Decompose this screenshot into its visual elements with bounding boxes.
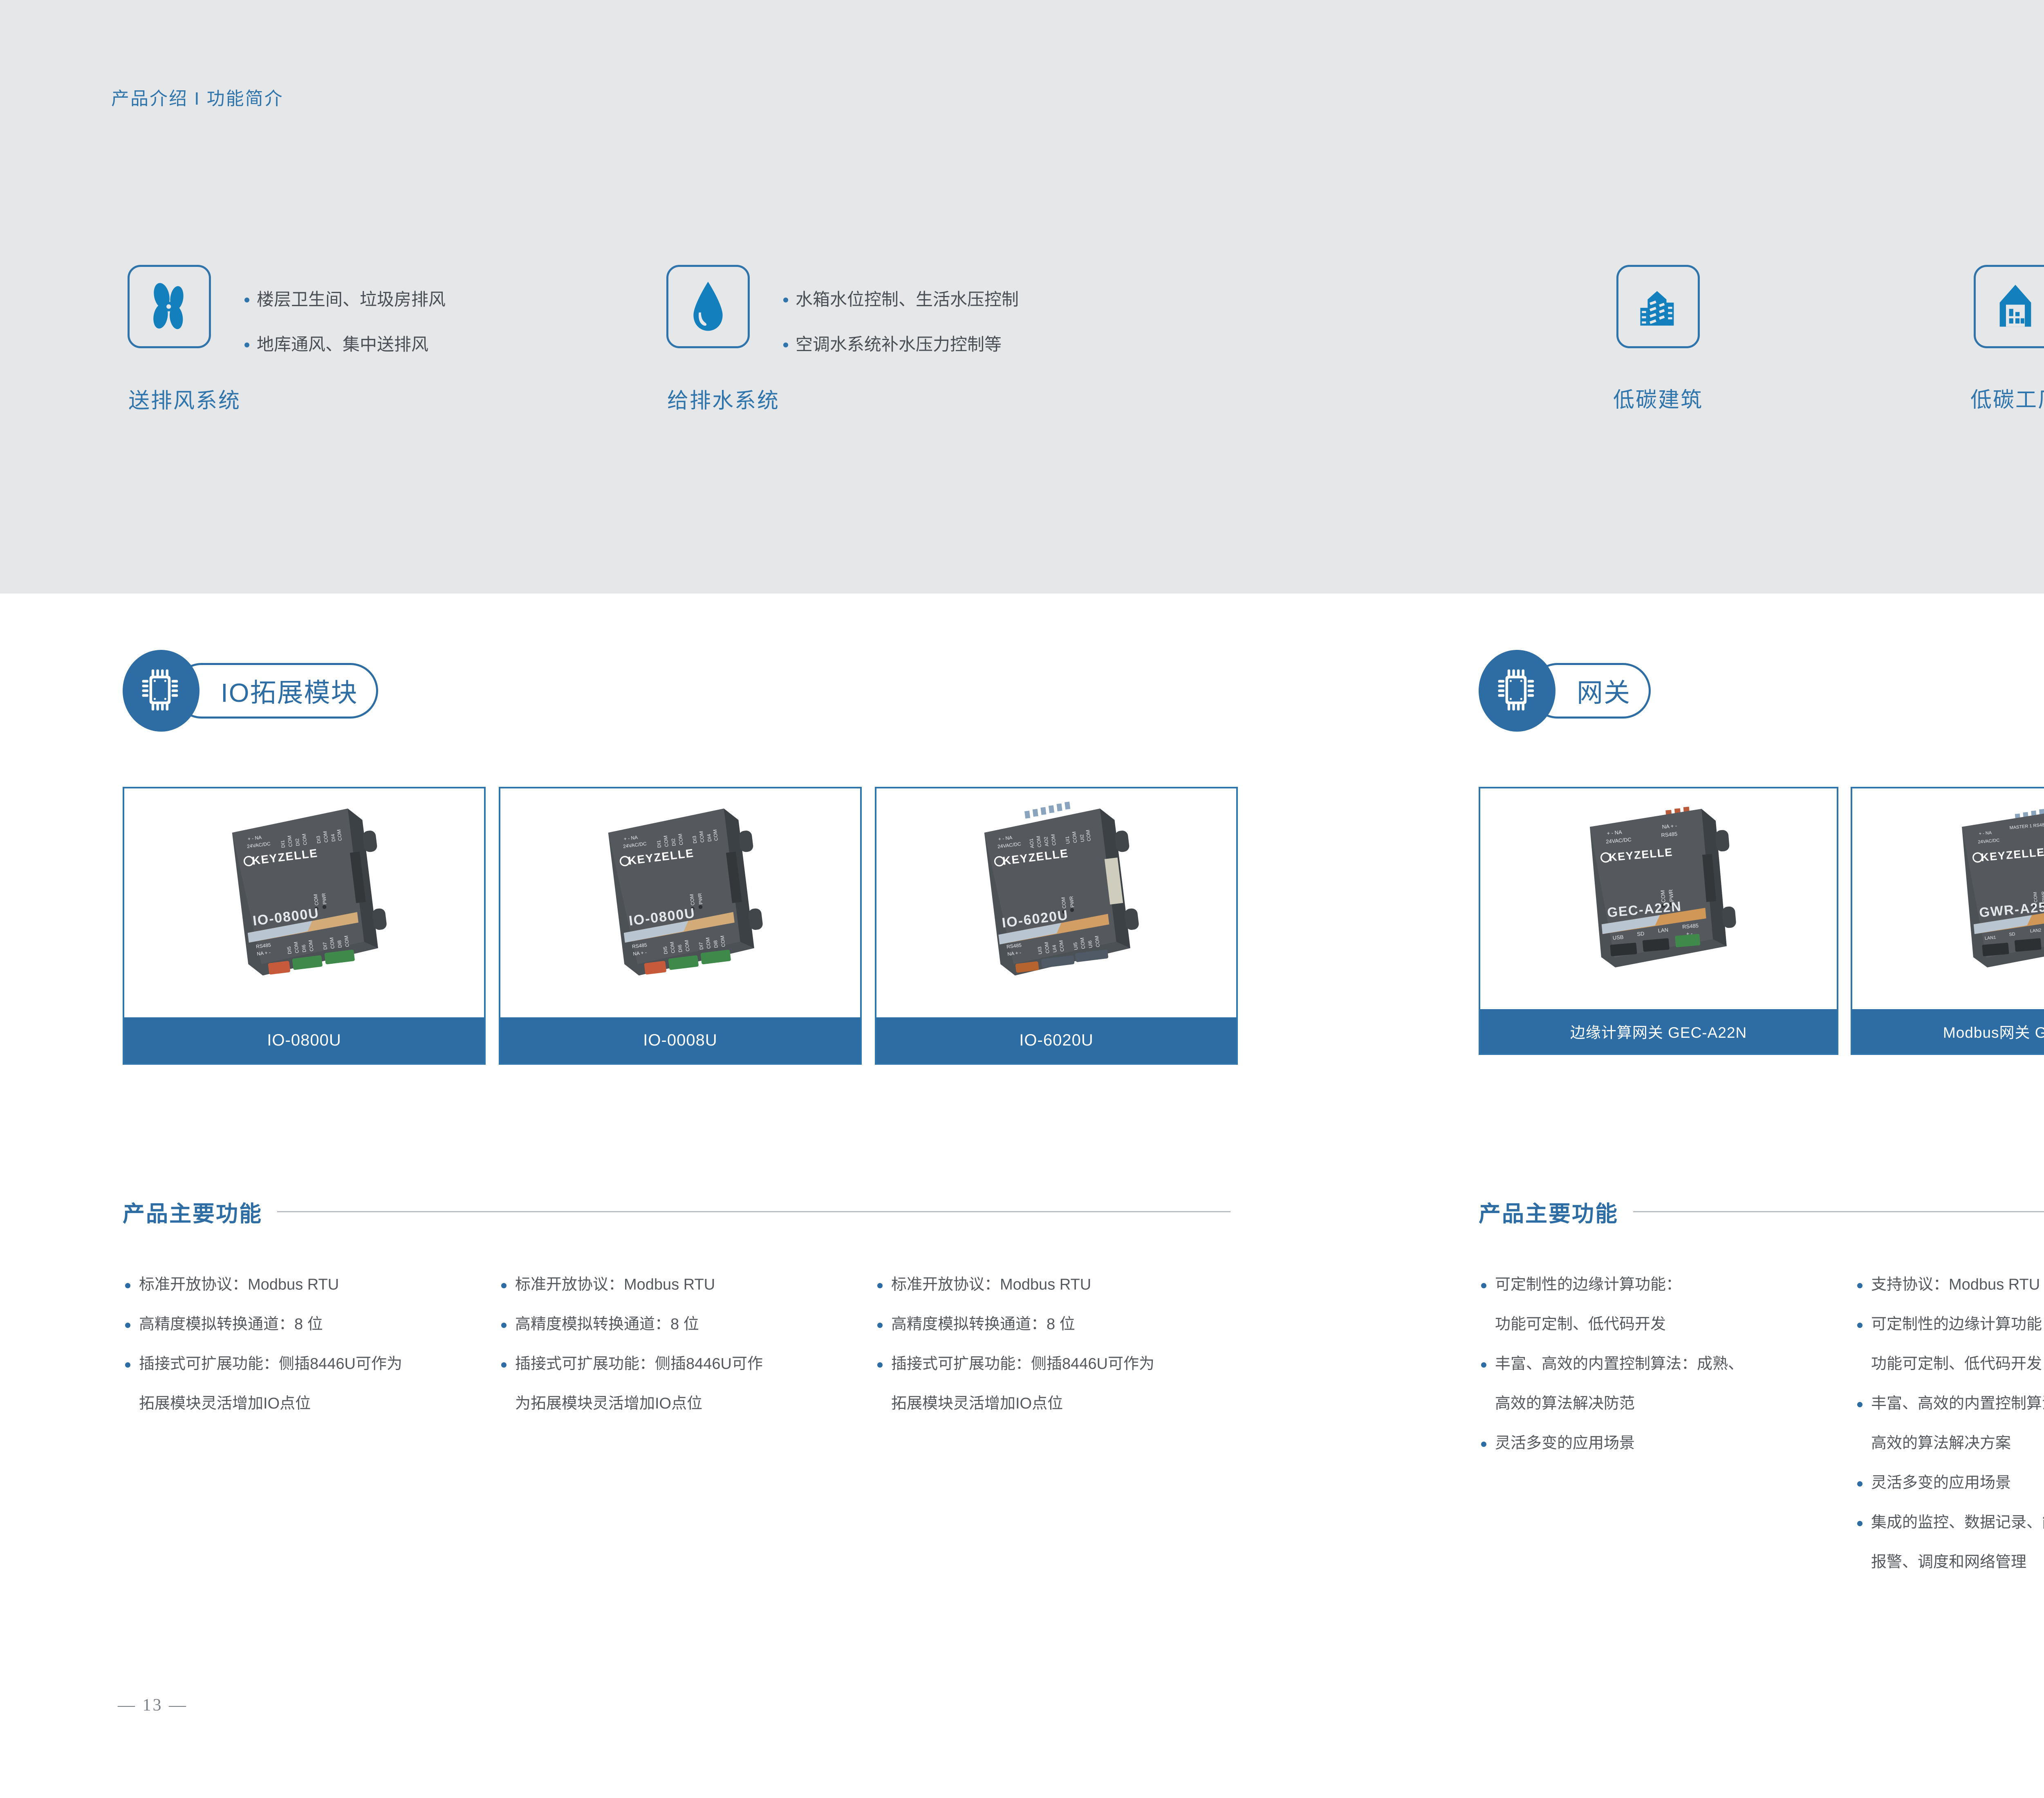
- svg-text:UI4: UI4: [1051, 945, 1058, 953]
- list-item: 标准开放协议：Modbus RTU: [123, 1265, 499, 1305]
- section-title: IO拓展模块: [221, 672, 358, 710]
- feature-line: 标准开放协议：Modbus RTU: [891, 1276, 1091, 1293]
- feature-line: 高效的算法解决防范: [1495, 1384, 1855, 1424]
- feature-line: 功能可定制、低代码开发: [1495, 1305, 1855, 1344]
- factory-icon-box: [1974, 265, 2044, 348]
- feature-line: 灵活多变的应用场景: [1871, 1474, 2011, 1491]
- heading-rule: [1633, 1211, 2044, 1212]
- ventilation-bullet-list: 楼层卫生间、垃圾房排风 地库通风、集中送排风: [242, 277, 446, 367]
- list-item: 灵活多变的应用场景: [1479, 1424, 1855, 1463]
- svg-text:USB: USB: [1612, 934, 1624, 941]
- svg-text:DI3: DI3: [315, 835, 322, 844]
- product-card-row-io: + - NA24VAC/DC DI1 COM DI2 COM DI3 COM D…: [123, 787, 1238, 1065]
- list-item: 灵活多变的应用场景: [1855, 1463, 2044, 1503]
- list-item: 高精度模拟转换通道：8 位: [123, 1305, 499, 1344]
- feature-line: 可定制性的边缘计算功能：: [1871, 1316, 2044, 1333]
- product-photo: + - NA24VAC/DC MASTER 1 RS485 2 RS485 3 …: [1852, 788, 2044, 1009]
- svg-text:DI6: DI6: [300, 944, 307, 953]
- list-item: 高精度模拟转换通道：8 位: [875, 1305, 1251, 1344]
- chip-icon-badge: [1479, 650, 1555, 732]
- list-item: 集成的监控、数据记录、能耗计量、 报警、调度和网络管理: [1855, 1503, 2044, 1582]
- feature-line: 高效的算法解决方案: [1871, 1424, 2044, 1463]
- product-card-row-gateway: + - NA24VAC/DC NA + -RS485 USBSD LANRS48…: [1479, 787, 2044, 1055]
- section-title: 网关: [1577, 672, 1631, 710]
- feature-columns-io: 标准开放协议：Modbus RTU 高精度模拟转换通道：8 位 插接式可扩展功能…: [123, 1265, 1251, 1424]
- feature-column: 标准开放协议：Modbus RTU 高精度模拟转换通道：8 位 插接式可扩展功能…: [123, 1265, 499, 1424]
- list-item: 标准开放协议：Modbus RTU: [499, 1265, 875, 1305]
- feature-line: 标准开放协议：Modbus RTU: [139, 1276, 339, 1293]
- product-card[interactable]: + - NA24VAC/DC NA + -RS485 USBSD LANRS48…: [1479, 787, 1838, 1055]
- product-card[interactable]: + - NA24VAC/DC MASTER 1 RS485 2 RS485 3 …: [1851, 787, 2044, 1055]
- chip-icon: [140, 666, 182, 716]
- list-item: 插接式可扩展功能：侧插8446U可作为 拓展模块灵活增加IO点位: [875, 1344, 1251, 1424]
- scenario-low-carbon-building: 低碳建筑: [1589, 265, 1728, 413]
- product-card[interactable]: + - NA24VAC/DC DI1 COM DI2 COM DI3 COM D…: [499, 787, 862, 1065]
- feature-column: 可定制性的边缘计算功能： 功能可定制、低代码开发 丰富、高效的内置控制算法：成熟…: [1479, 1265, 1855, 1582]
- product-card[interactable]: + - NA24VAC/DC AO1 COM AO2 COM UI1 COM U…: [875, 787, 1238, 1065]
- feature-column: 标准开放协议：Modbus RTU 高精度模拟转换通道：8 位 插接式可扩展功能…: [499, 1265, 875, 1424]
- feature-line: 插接式可扩展功能：侧插8446U可作为: [891, 1355, 1154, 1373]
- feature-column: 标准开放协议：Modbus RTU 高精度模拟转换通道：8 位 插接式可扩展功能…: [875, 1265, 1251, 1424]
- svg-text:DI7: DI7: [698, 942, 704, 950]
- product-name: 边缘计算网关 GEC-A22N: [1480, 1009, 1837, 1053]
- list-item: 可定制性的边缘计算功能： 功能可定制、低代码开发: [1855, 1305, 2044, 1384]
- product-card[interactable]: + - NA24VAC/DC DI1 COM DI2 COM DI3 COM D…: [123, 787, 486, 1065]
- fan-icon-box: [128, 265, 211, 348]
- feature-heading-gateway: 产品主要功能: [1479, 1196, 2044, 1228]
- scenario-caption: 低碳建筑: [1589, 383, 1728, 413]
- product-photo: + - NA24VAC/DC DI1 COM DI2 COM DI3 COM D…: [500, 788, 860, 1017]
- product-photo: + - NA24VAC/DC NA + -RS485 USBSD LANRS48…: [1480, 788, 1837, 1009]
- feature-line: 拓展模块灵活增加IO点位: [891, 1384, 1251, 1424]
- svg-text:DI1: DI1: [280, 840, 286, 848]
- office-building-icon-box: [1616, 265, 1700, 348]
- heading-rule: [277, 1211, 1230, 1212]
- scenario-caption: 给排水系统: [667, 383, 780, 414]
- svg-text:LAN2: LAN2: [2030, 928, 2041, 934]
- chip-icon: [1496, 666, 1538, 716]
- svg-text:UI3: UI3: [1037, 946, 1043, 955]
- feature-line: 高精度模拟转换通道：8 位: [515, 1316, 699, 1333]
- product-name: IO-6020U: [876, 1017, 1236, 1063]
- svg-text:DI6: DI6: [677, 944, 683, 953]
- section-pill-body: IO拓展模块: [174, 663, 378, 719]
- feature-line: 丰富、高效的内置控制算法：成熟、: [1495, 1355, 1744, 1373]
- feature-line: 集成的监控、数据记录、能耗计量、: [1871, 1514, 2044, 1531]
- feature-line: 高精度模拟转换通道：8 位: [891, 1316, 1075, 1333]
- product-name: IO-0008U: [500, 1017, 860, 1063]
- svg-text:DI5: DI5: [286, 946, 293, 954]
- water-drop-icon: [684, 280, 732, 334]
- running-header-left: 产品介绍 I 功能简介: [111, 84, 284, 110]
- feature-column: 支持协议：Modbus RTU 可定制性的边缘计算功能： 功能可定制、低代码开发…: [1855, 1265, 2044, 1582]
- svg-text:AO1: AO1: [1028, 838, 1035, 849]
- list-item: 可定制性的边缘计算功能： 功能可定制、低代码开发: [1479, 1265, 1855, 1344]
- feature-line: 拓展模块灵活增加IO点位: [139, 1384, 499, 1424]
- svg-text:UI2: UI2: [1079, 834, 1085, 842]
- svg-text:DI8: DI8: [713, 940, 719, 948]
- svg-text:DI2: DI2: [670, 838, 677, 846]
- svg-text:SD: SD: [1637, 930, 1645, 937]
- svg-text:DI7: DI7: [322, 942, 328, 950]
- feature-heading-io: 产品主要功能: [123, 1196, 1230, 1228]
- list-item: 插接式可扩展功能：侧插8446U可作 为拓展模块灵活增加IO点位: [499, 1344, 875, 1424]
- svg-text:UI1: UI1: [1064, 836, 1071, 844]
- page-number-left: — 13 —: [118, 1695, 188, 1715]
- feature-heading-text: 产品主要功能: [1479, 1196, 1618, 1228]
- scenario-caption: 低碳工厂: [1946, 383, 2044, 413]
- list-item: 高精度模拟转换通道：8 位: [499, 1305, 875, 1344]
- feature-line: 报警、调度和网络管理: [1871, 1543, 2044, 1582]
- svg-text:DI4: DI4: [330, 833, 336, 842]
- product-name: Modbus网关 GWR-A25N: [1852, 1009, 2044, 1053]
- list-item: 地库通风、集中送排风: [242, 322, 446, 367]
- svg-text:LAN1: LAN1: [1985, 935, 1996, 941]
- factory-icon: [1989, 280, 2042, 334]
- product-photo: + - NA24VAC/DC AO1 COM AO2 COM UI1 COM U…: [876, 788, 1236, 1017]
- feature-heading-text: 产品主要功能: [123, 1196, 262, 1228]
- office-building-icon: [1632, 280, 1684, 334]
- feature-line: 可定制性的边缘计算功能：: [1495, 1276, 1681, 1293]
- list-item: 空调水系统补水压力控制等: [781, 322, 1019, 367]
- svg-text:LAN: LAN: [1658, 927, 1669, 934]
- feature-line: 支持协议：Modbus RTU: [1871, 1276, 2040, 1293]
- fan-icon: [142, 280, 196, 334]
- svg-text:SD: SD: [2009, 932, 2015, 937]
- list-item: 水箱水位控制、生活水压控制: [781, 277, 1019, 322]
- svg-text:DI3: DI3: [691, 835, 698, 844]
- list-item: 插接式可扩展功能：侧插8446U可作为 拓展模块灵活增加IO点位: [123, 1344, 499, 1424]
- product-name: IO-0800U: [124, 1017, 484, 1063]
- feature-line: 灵活多变的应用场景: [1495, 1435, 1635, 1452]
- list-item: 楼层卫生间、垃圾房排风: [242, 277, 446, 322]
- feature-line: 插接式可扩展功能：侧插8446U可作为: [139, 1355, 402, 1373]
- list-item: 丰富、高效的内置控制算法：成熟、 高效的算法解决方案: [1855, 1384, 2044, 1463]
- svg-text:DI1: DI1: [656, 840, 662, 848]
- feature-line: 插接式可扩展功能：侧插8446U可作: [515, 1355, 763, 1373]
- scenario-low-carbon-factory: 低碳工厂: [1946, 265, 2044, 413]
- scenario-caption: 送排风系统: [128, 383, 241, 414]
- feature-line: 为拓展模块灵活增加IO点位: [515, 1384, 875, 1424]
- product-photo: + - NA24VAC/DC DI1 COM DI2 COM DI3 COM D…: [124, 788, 484, 1017]
- svg-text:DI5: DI5: [662, 946, 669, 954]
- svg-text:NA + -: NA + -: [1662, 822, 1677, 830]
- svg-text:UI5: UI5: [1072, 942, 1079, 950]
- list-item: 标准开放协议：Modbus RTU: [875, 1265, 1251, 1305]
- svg-text:UI6: UI6: [1087, 940, 1094, 949]
- svg-text:DI8: DI8: [336, 940, 343, 948]
- svg-text:DI2: DI2: [294, 838, 301, 846]
- svg-text:AO2: AO2: [1043, 836, 1050, 847]
- feature-line: 高精度模拟转换通道：8 位: [139, 1316, 323, 1333]
- svg-text:DI4: DI4: [706, 833, 713, 842]
- feature-columns-gateway: 可定制性的边缘计算功能： 功能可定制、低代码开发 丰富、高效的内置控制算法：成熟…: [1479, 1265, 2044, 1582]
- list-item: 支持协议：Modbus RTU: [1855, 1265, 2044, 1305]
- chip-icon-badge: [123, 650, 199, 732]
- brochure-spread: 产品介绍 I 功能简介 产品介绍 I 功能简介 楼层卫生间、垃圾房排风: [0, 0, 2044, 1798]
- water-drop-icon-box: [666, 265, 750, 348]
- feature-line: 丰富、高效的内置控制算法：成熟、: [1871, 1395, 2044, 1412]
- feature-line: 功能可定制、低代码开发: [1871, 1344, 2044, 1384]
- feature-line: 标准开放协议：Modbus RTU: [515, 1276, 715, 1293]
- list-item: 丰富、高效的内置控制算法：成熟、 高效的算法解决防范: [1479, 1344, 1855, 1424]
- water-bullet-list: 水箱水位控制、生活水压控制 空调水系统补水压力控制等: [781, 277, 1019, 367]
